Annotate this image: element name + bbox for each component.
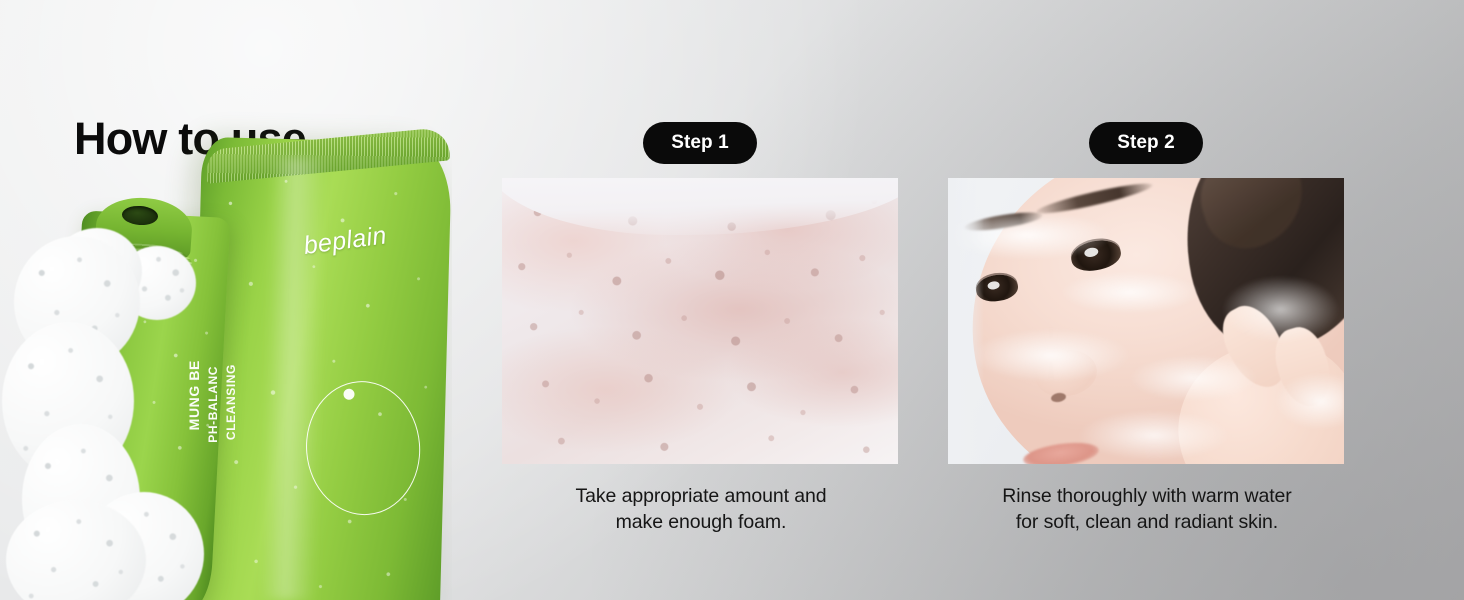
step-1-badge: Step 1 [643, 122, 757, 164]
step-2-badge: Step 2 [1089, 122, 1203, 164]
face-photo [948, 178, 1344, 464]
step-1-caption: Take appropriate amount and make enough … [502, 483, 900, 535]
how-to-use-banner: How to use beplain MUNG BE PH-BALANC CLE… [0, 0, 1464, 600]
tube-label-line-3: CLEANSING [224, 364, 238, 440]
step-2-caption-line-1: Rinse thoroughly with warm water [948, 483, 1346, 509]
step-2-caption: Rinse thoroughly with warm water for sof… [948, 483, 1346, 535]
step-2-column: Step 2 Rinse thorough [948, 0, 1346, 600]
tube-label-line-1: MUNG BE [186, 360, 202, 430]
face-foam-lather [948, 178, 1344, 464]
tube-label-line-2: PH-BALANC [206, 366, 220, 443]
step-1-caption-line-2: make enough foam. [502, 509, 900, 535]
step-2-caption-line-2: for soft, clean and radiant skin. [948, 509, 1346, 535]
photo-edge-fade [948, 178, 984, 464]
step-1-column: Step 1 Take appropriate amount and make … [502, 0, 900, 600]
step-1-image [502, 178, 898, 464]
step-1-caption-line-1: Take appropriate amount and [502, 483, 900, 509]
step-2-image [948, 178, 1344, 464]
product-photo: beplain MUNG BE PH-BALANC CLEANSING [0, 0, 452, 600]
